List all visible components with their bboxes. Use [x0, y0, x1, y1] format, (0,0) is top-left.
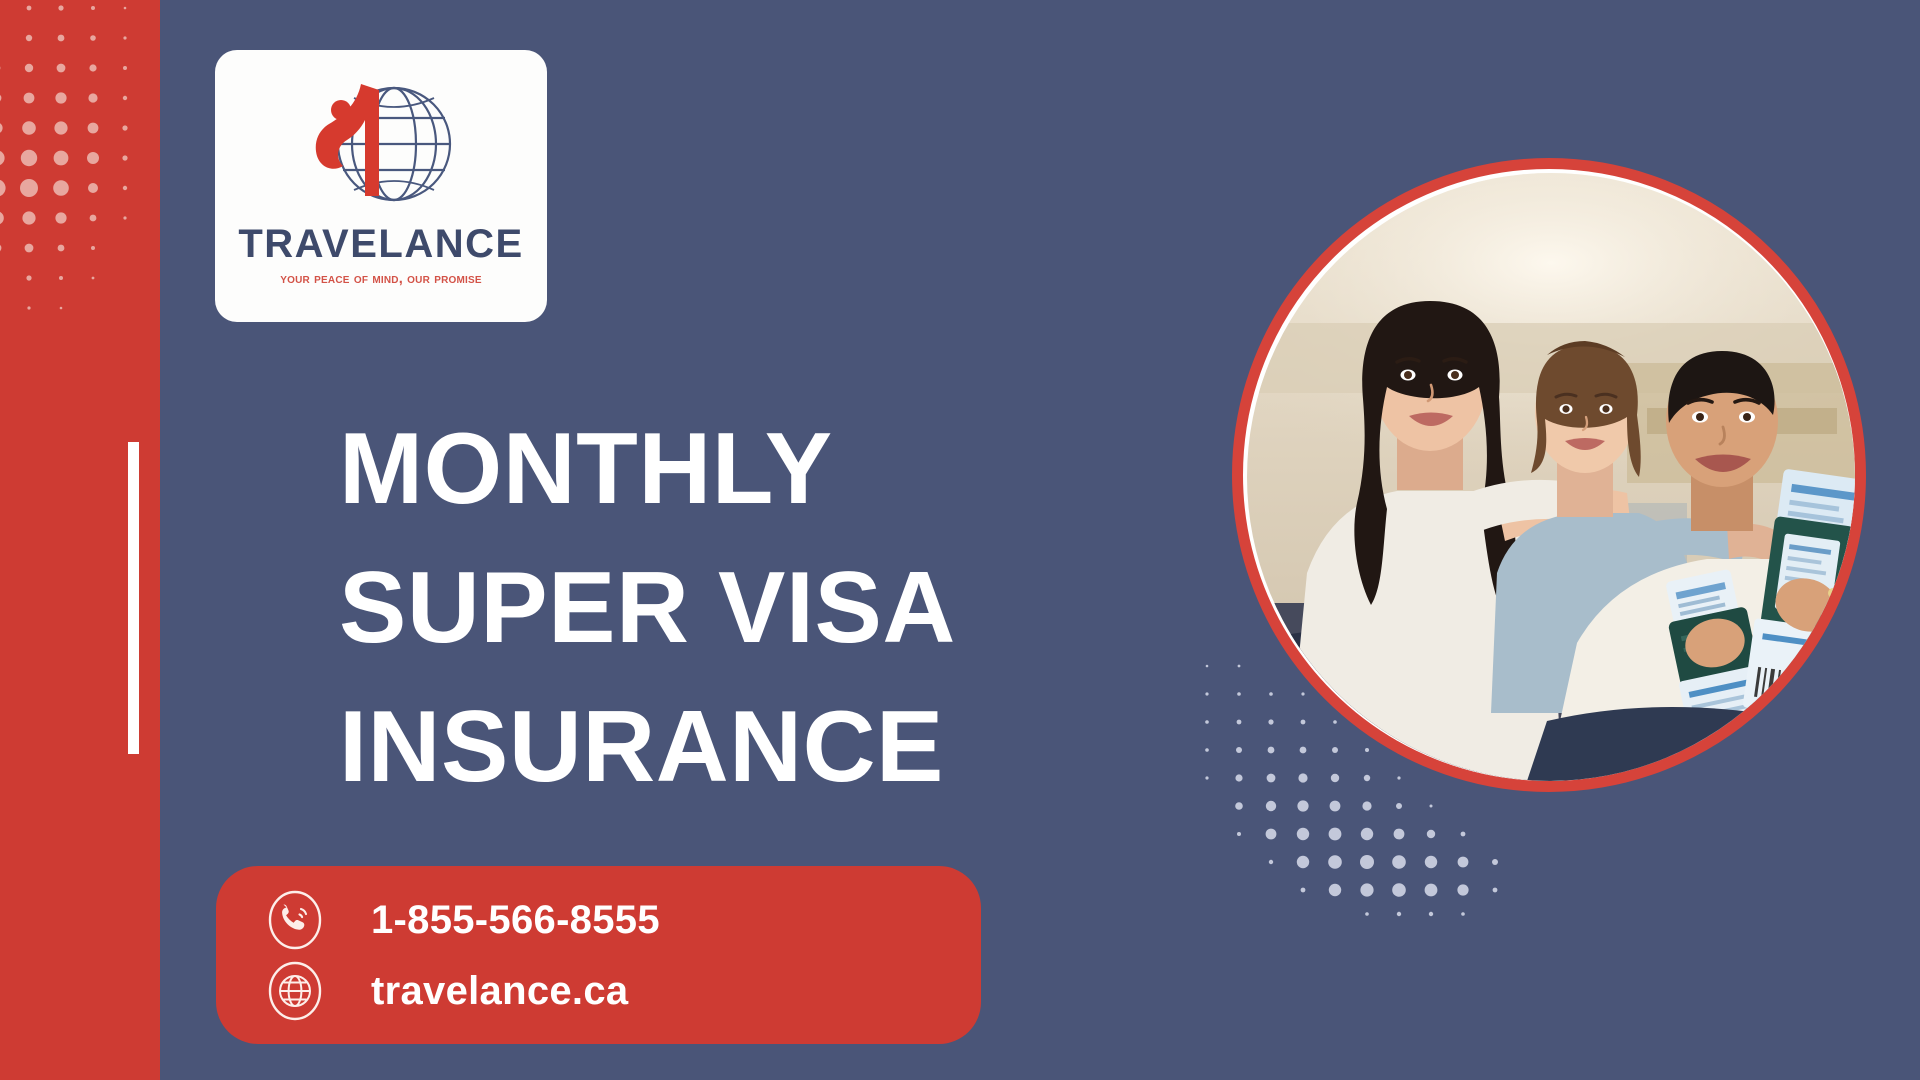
logo-card[interactable]: TRAVELANCE Your peace of mind, Our Promi… — [215, 50, 547, 322]
family-photo-illustration — [1247, 173, 1855, 781]
logo-tagline: Your peace of mind, Our Promise — [280, 271, 482, 287]
globe-icon — [264, 960, 326, 1022]
page-title: MONTHLY SUPER VISA INSURANCE — [339, 400, 1079, 817]
hero-photo — [1232, 158, 1866, 792]
contact-website-label: travelance.ca — [371, 971, 628, 1011]
logo-wordmark: TRAVELANCE — [238, 224, 523, 264]
photo-inner — [1247, 173, 1855, 781]
halftone-dots-icon — [0, 0, 160, 330]
phone-icon — [264, 889, 326, 951]
white-accent-bar — [128, 442, 139, 754]
headline-line-1: MONTHLY — [339, 400, 1079, 539]
photo-ring — [1232, 158, 1866, 792]
contact-bar: 1-855-566-8555 travelance.ca — [216, 866, 981, 1044]
headline-line-2: SUPER VISA — [339, 539, 1079, 678]
contact-item-phone[interactable]: 1-855-566-8555 — [264, 888, 981, 952]
contact-phone-label: 1-855-566-8555 — [371, 900, 660, 940]
promo-banner: TRAVELANCE Your peace of mind, Our Promi… — [0, 0, 1920, 1080]
headline-line-3: INSURANCE — [339, 678, 1079, 817]
contact-item-website[interactable]: travelance.ca — [264, 959, 981, 1023]
globe-with-person-icon — [299, 70, 464, 222]
